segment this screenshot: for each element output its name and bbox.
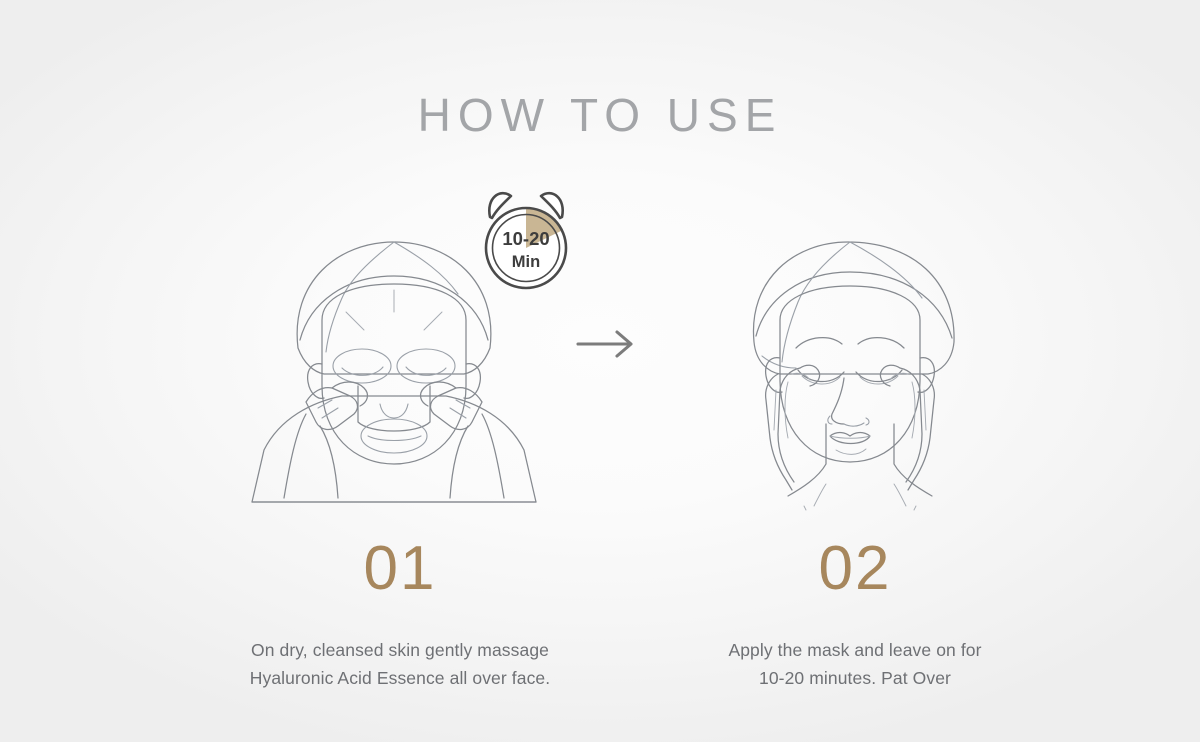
how-to-use-panel: HOW TO USE 10-20 Min — [0, 0, 1200, 742]
woman-with-sheet-mask-illustration — [246, 236, 542, 516]
woman-massaging-face-illustration — [726, 238, 994, 520]
step-2-caption-line-2: 10-20 minutes. Pat Over — [620, 664, 1090, 692]
step-2: 02 Apply the mask and leave on for 10-20… — [620, 538, 1090, 693]
step-2-caption: Apply the mask and leave on for 10-20 mi… — [620, 636, 1090, 693]
step-2-illustration — [726, 238, 994, 520]
step-1-caption-line-2: Hyaluronic Acid Essence all over face. — [150, 664, 650, 692]
flow-arrow — [572, 318, 644, 370]
arrow-right-icon — [572, 318, 644, 370]
step-1-caption: On dry, cleansed skin gently massage Hya… — [150, 636, 650, 693]
step-2-number: 02 — [620, 538, 1090, 600]
page-title: HOW TO USE — [0, 88, 1200, 142]
step-1-caption-line-1: On dry, cleansed skin gently massage — [150, 636, 650, 664]
step-2-caption-line-1: Apply the mask and leave on for — [620, 636, 1090, 664]
step-1-illustration — [246, 236, 542, 516]
step-1: 01 On dry, cleansed skin gently massage … — [150, 538, 650, 693]
step-1-number: 01 — [150, 538, 650, 600]
